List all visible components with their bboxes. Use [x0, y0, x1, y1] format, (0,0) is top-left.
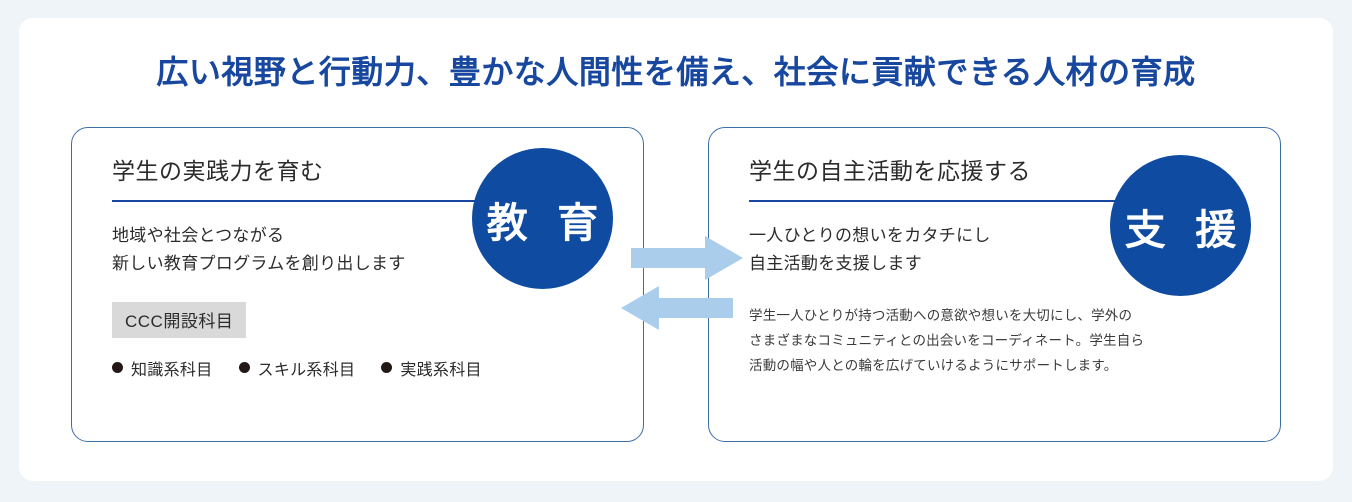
card-education-bullet-list: 知識系科目 スキル系科目 実践系科目 [112, 356, 619, 380]
list-item: 知識系科目 [112, 356, 213, 380]
badge-support: 支 援 [1110, 155, 1251, 296]
card-support-note-line-1: 学生一人ひとりが持つ活動への意欲や想いを大切にし、学外の [749, 304, 1256, 329]
arrow-left-icon [621, 286, 733, 330]
page-title: 広い視野と行動力、豊かな人間性を備え、社会に貢献できる人材の育成 [0, 47, 1352, 93]
card-support-note: 学生一人ひとりが持つ活動への意欲や想いを大切にし、学外の さまざまなコミュニティ… [749, 304, 1256, 379]
bullet-dot-icon [112, 362, 123, 373]
arrow-right-icon [631, 236, 743, 280]
list-item: 実践系科目 [381, 356, 482, 380]
bullet-label: 知識系科目 [131, 356, 213, 380]
diagram-stage: 広い視野と行動力、豊かな人間性を備え、社会に貢献できる人材の育成 学生の実践力を… [0, 0, 1352, 502]
card-education-divider [112, 200, 504, 202]
bullet-label: スキル系科目 [258, 356, 356, 380]
bullet-dot-icon [381, 362, 392, 373]
badge-education: 教 育 [472, 148, 613, 289]
bullet-label: 実践系科目 [400, 356, 482, 380]
card-support-note-line-2: さまざまなコミュニティとの出会いをコーディネート。学生自ら [749, 329, 1256, 354]
bullet-dot-icon [239, 362, 250, 373]
card-support-note-line-3: 活動の幅や人との輪を広げていけるようにサポートします。 [749, 354, 1256, 379]
list-item: スキル系科目 [239, 356, 356, 380]
card-support-divider [749, 200, 1129, 202]
ccc-course-tag: CCC開設科目 [112, 302, 246, 338]
